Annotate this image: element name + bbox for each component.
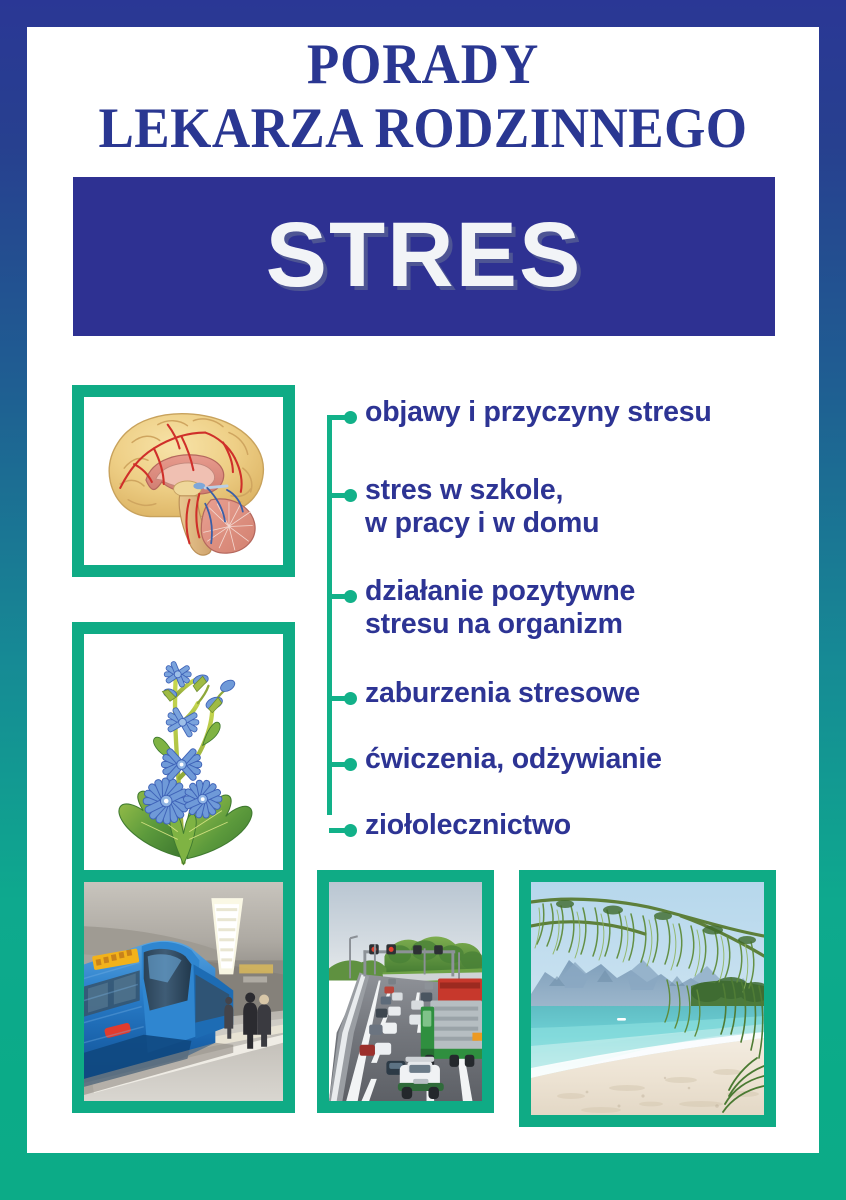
bullet-spine-line	[327, 415, 332, 815]
beach-image-frame	[519, 870, 776, 1127]
metro-image-frame	[72, 870, 295, 1113]
bullet-dot-icon	[344, 824, 357, 837]
bullet-dot-icon	[344, 489, 357, 502]
chicory-illustration-icon	[84, 634, 283, 874]
bullet-label-3: działanie pozytywne stresu na organizm	[365, 575, 635, 641]
metro-train-photo-icon	[84, 882, 283, 1101]
distant-boat	[617, 1018, 626, 1021]
bullet-dot-icon	[344, 411, 357, 424]
tropical-beach-photo-icon	[531, 882, 764, 1115]
bottom-photo-row	[27, 870, 819, 1122]
series-title-line-1: PORADY	[55, 33, 792, 97]
beach-image	[531, 882, 764, 1115]
highway-image	[329, 882, 482, 1101]
main-title-banner: STRES	[73, 177, 775, 336]
bullet-label-1: objawy i przyczyny stresu	[365, 396, 712, 429]
middle-section: objawy i przyczyny stresu stres w szkole…	[27, 357, 819, 857]
bullet-label-4: zaburzenia stresowe	[365, 677, 640, 710]
herb-image	[84, 634, 283, 874]
series-title: PORADY LEKARZA RODZINNEGO	[27, 33, 819, 161]
cover-paper: PORADY LEKARZA RODZINNEGO STRES	[27, 27, 819, 1153]
main-title-text: STRES	[266, 209, 583, 301]
series-title-line-2: LEKARZA RODZINNEGO	[55, 97, 792, 161]
herb-image-frame	[72, 622, 295, 886]
feature-bullet-list: objawy i przyczyny stresu stres w szkole…	[327, 385, 797, 855]
highway-image-frame	[317, 870, 494, 1113]
bullet-dot-icon	[344, 590, 357, 603]
brain-illustration-icon	[84, 397, 283, 565]
metro-image	[84, 882, 283, 1101]
brain-image-frame	[72, 385, 295, 577]
bullet-label-6: ziołolecznictwo	[365, 809, 571, 842]
bullet-label-2: stres w szkole, w pracy i w domu	[365, 474, 599, 540]
brain-image	[84, 397, 283, 565]
bullet-label-5: ćwiczenia, odżywianie	[365, 743, 662, 776]
bullet-dot-icon	[344, 758, 357, 771]
bullet-dot-icon	[344, 692, 357, 705]
highway-traffic-photo-icon	[329, 882, 482, 1101]
book-cover: PORADY LEKARZA RODZINNEGO STRES	[0, 0, 846, 1200]
